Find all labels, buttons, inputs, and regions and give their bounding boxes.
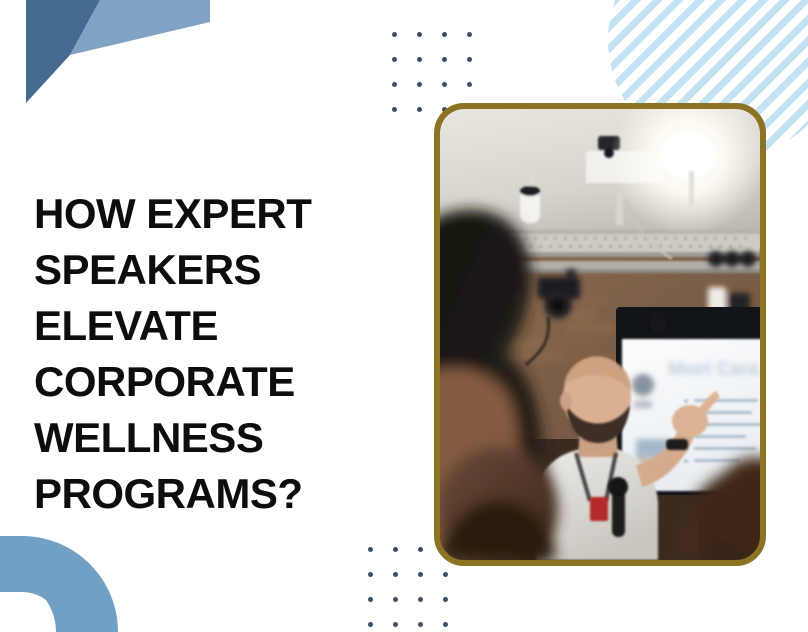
- quarter-ring-arc: [0, 536, 118, 632]
- dot: [418, 622, 423, 627]
- badge: [590, 497, 608, 521]
- dot: [417, 107, 422, 112]
- dot-grid-top: [392, 32, 472, 112]
- dot: [392, 107, 397, 112]
- photo-card: Meet Cara: [434, 103, 766, 566]
- dot: [418, 597, 423, 602]
- dot: [443, 597, 448, 602]
- dot: [467, 57, 472, 62]
- page-title: HOW EXPERT SPEAKERS ELEVATE CORPORATE WE…: [34, 186, 434, 522]
- wristwatch: [666, 439, 688, 450]
- triangle-dark-blue-2: [26, 0, 100, 103]
- poster-canvas: HOW EXPERT SPEAKERS ELEVATE CORPORATE WE…: [0, 0, 808, 632]
- dot: [368, 547, 373, 552]
- dot: [392, 82, 397, 87]
- dot: [467, 32, 472, 37]
- dot: [368, 597, 373, 602]
- dot: [418, 547, 423, 552]
- top-left-triangles-decoration: [0, 0, 210, 120]
- dot: [368, 622, 373, 627]
- speaker-ear: [560, 392, 572, 410]
- dot: [467, 82, 472, 87]
- quarter-ring-arc-fill: [0, 536, 96, 632]
- slide-title: Meet Cara: [668, 359, 759, 380]
- dot: [443, 572, 448, 577]
- dot: [417, 32, 422, 37]
- dot: [442, 32, 447, 37]
- dot: [393, 572, 398, 577]
- dot: [442, 82, 447, 87]
- screen-camera: [649, 312, 667, 334]
- dot: [393, 622, 398, 627]
- dot: [442, 57, 447, 62]
- dot: [392, 32, 397, 37]
- dot: [418, 572, 423, 577]
- dot: [443, 622, 448, 627]
- dot: [393, 597, 398, 602]
- dot: [393, 547, 398, 552]
- dot: [392, 57, 397, 62]
- dot: [368, 572, 373, 577]
- lamp-stem: [689, 171, 694, 207]
- dot: [417, 82, 422, 87]
- dot-grid-bottom: [368, 547, 448, 627]
- quarter-ring-decoration: [0, 514, 128, 632]
- dot: [417, 57, 422, 62]
- speaker-photo: Meet Cara: [440, 109, 760, 560]
- triangle-dark-blue: [26, 0, 70, 103]
- triangle-light-blue: [70, 0, 210, 55]
